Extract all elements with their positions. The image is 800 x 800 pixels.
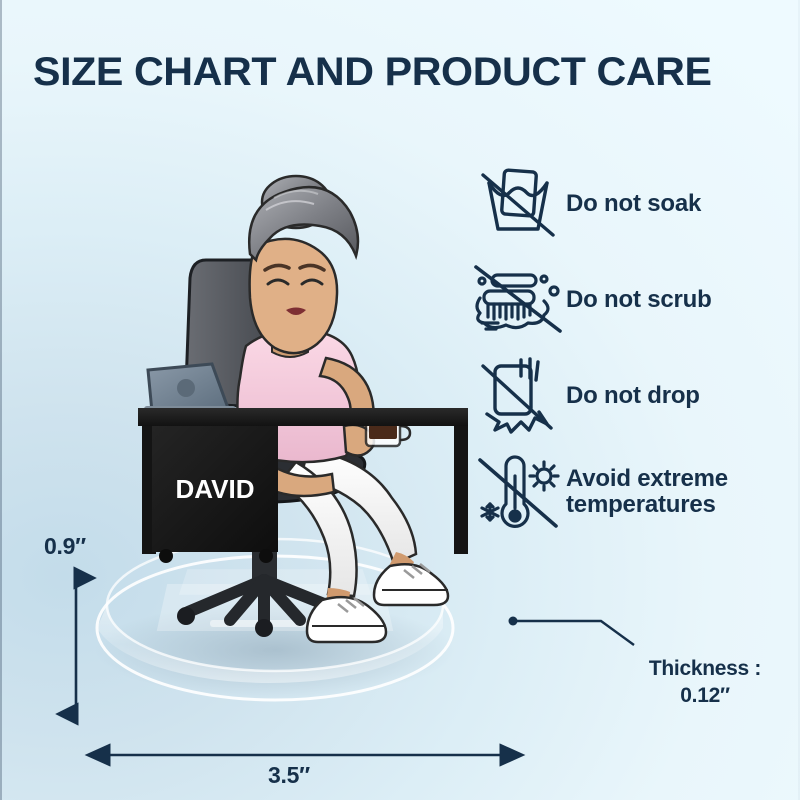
care-item-no-soak: Do not soak — [470, 158, 790, 250]
care-item-label: Do not soak — [566, 191, 701, 217]
care-item-no-scrub: Do not scrub — [470, 258, 790, 342]
page-title: SIZE CHART AND PRODUCT CARE — [33, 50, 712, 94]
care-item-no-drop: Do not drop — [470, 350, 790, 442]
no-soak-icon — [470, 167, 566, 241]
care-instructions-list: Do not soak — [470, 158, 790, 542]
product-info-graphic: SIZE CHART AND PRODUCT CARE — [0, 0, 800, 800]
care-item-label: Do not scrub — [566, 287, 712, 313]
height-dimension-label: 0.9″ — [44, 533, 86, 560]
no-drop-icon — [470, 356, 566, 436]
no-scrub-icon — [470, 265, 566, 335]
sneaker-right — [374, 564, 448, 605]
thickness-leader-line — [509, 617, 635, 646]
thickness-label-line1: Thickness : — [649, 657, 761, 680]
thickness-dimension-label: Thickness : 0.12″ — [630, 655, 780, 709]
engraved-name: DAVID — [176, 474, 255, 504]
thickness-label-line2: 0.12″ — [680, 684, 729, 707]
care-label-line1: Avoid extreme — [566, 465, 728, 492]
width-dimension-label: 3.5″ — [268, 762, 310, 789]
no-extreme-temp-icon — [470, 454, 566, 530]
product-illustration: DAVID — [60, 150, 490, 750]
care-item-label: Avoid extreme temperatures — [566, 466, 728, 518]
care-item-avoid-extreme-temperatures: Avoid extreme temperatures — [470, 450, 790, 534]
care-item-label: Do not drop — [566, 383, 700, 409]
care-label-line2: temperatures — [566, 491, 716, 518]
